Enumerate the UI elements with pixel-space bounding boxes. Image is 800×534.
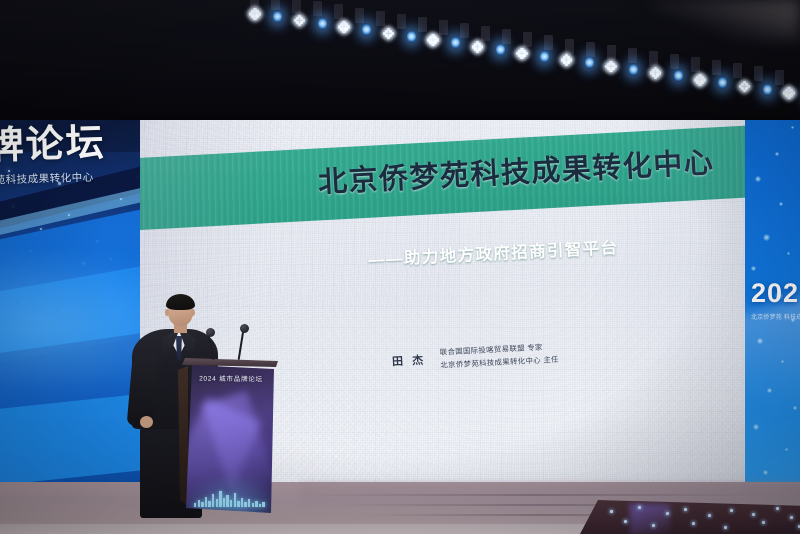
- truss-tooth: [271, 0, 280, 10]
- cluster-light-icon: [516, 48, 528, 60]
- skyline-building: [219, 491, 221, 507]
- skyline-building: [248, 499, 250, 507]
- truss-tooth: [313, 1, 322, 16]
- truss-tooth: [439, 20, 448, 35]
- cluster-light-icon: [650, 67, 662, 79]
- truss-tooth: [691, 57, 700, 72]
- truss-tooth: [754, 66, 763, 81]
- skyline-building: [259, 504, 261, 507]
- truss-tooth: [376, 11, 385, 26]
- truss-tooth: [649, 51, 658, 66]
- cluster-light-icon: [561, 54, 573, 66]
- ceiling-wall-glow: [650, 0, 800, 40]
- cluster-light-icon: [383, 28, 395, 40]
- truss-tooth: [481, 26, 490, 41]
- bokeh-dot: [755, 176, 761, 182]
- riser-sparkle: [692, 522, 695, 525]
- riser-sparkle: [638, 506, 641, 509]
- cluster-light-icon: [338, 21, 350, 33]
- left-panel-text: 品牌论坛 北京侨梦苑科技成果转化中心: [0, 123, 147, 189]
- bokeh-dot: [791, 126, 794, 129]
- podium-sign-text: 2024 城市品牌论坛: [199, 372, 263, 383]
- microphone-icon: [240, 324, 249, 333]
- riser-sparkle: [730, 509, 733, 512]
- riser-sparkle: [666, 512, 669, 515]
- speaker-tie: [176, 336, 182, 360]
- bokeh-dot: [787, 252, 790, 255]
- truss-tooth: [544, 35, 553, 50]
- left-panel-title: 品牌论坛: [0, 123, 146, 167]
- riser-sparkle: [652, 524, 655, 527]
- skyline-building: [262, 502, 264, 507]
- riser-sparkle: [624, 520, 627, 523]
- right-panel-subtitle: 北京侨梦苑 科技成果: [751, 312, 800, 321]
- speaker-ear-left: [165, 309, 169, 316]
- conference-stage-photo: 品牌论坛 北京侨梦苑科技成果转化中心 北京侨梦苑科技成果转化中心 ——助力地方政…: [0, 0, 800, 534]
- lectern-podium: 2024 城市品牌论坛: [184, 358, 276, 514]
- riser-sparkle: [752, 513, 755, 516]
- skyline-building: [198, 500, 200, 507]
- skyline-building: [212, 494, 214, 507]
- bokeh-dot: [775, 152, 779, 156]
- spotlight-icon: [407, 30, 416, 43]
- spotlight-icon: [674, 69, 683, 82]
- skyline-building: [252, 503, 254, 507]
- skyline-building: [230, 500, 232, 507]
- skyline-building: [216, 499, 218, 507]
- cluster-light-icon: [249, 8, 261, 20]
- right-panel-year: 202: [751, 280, 800, 307]
- skyline-building: [194, 503, 196, 507]
- ceiling-truss: [0, 0, 800, 120]
- right-panel-text: 202 北京侨梦苑 科技成果: [751, 280, 800, 321]
- stage-riser: [580, 500, 800, 534]
- truss-tooth: [502, 29, 511, 44]
- truss-tooth: [712, 60, 721, 75]
- cluster-light-icon: [605, 61, 617, 73]
- truss-tooth: [586, 42, 595, 57]
- truss-tooth: [460, 23, 469, 38]
- riser-sparkle: [708, 514, 711, 517]
- left-panel-glow: [0, 250, 150, 400]
- right-panel-sheen: [745, 294, 800, 488]
- podium-front-panel: 2024 城市品牌论坛: [186, 365, 274, 513]
- podium-skyline-graphic: [194, 491, 266, 507]
- bokeh-dot: [751, 266, 756, 271]
- truss-tooth: [418, 17, 427, 32]
- truss-tooth: [775, 70, 784, 85]
- truss-tooth: [250, 0, 259, 7]
- microphone-icon: [206, 328, 215, 337]
- spotlight-icon: [318, 17, 327, 30]
- riser-sparkle: [776, 507, 779, 510]
- riser-light-beam: [630, 504, 670, 534]
- cluster-light-icon: [739, 81, 751, 93]
- skyline-building: [226, 495, 228, 507]
- spotlight-icon: [496, 43, 505, 56]
- riser-sparkle: [684, 508, 687, 511]
- riser-sparkle: [790, 516, 793, 519]
- riser-sparkle: [724, 526, 727, 529]
- truss-tooth: [670, 54, 679, 69]
- truss-tooth: [628, 48, 637, 63]
- truss-tooth: [334, 4, 343, 19]
- skyline-building: [244, 502, 246, 507]
- spotlight-icon: [273, 10, 282, 23]
- skyline-building: [234, 493, 236, 507]
- speaker-ear-right: [191, 309, 195, 316]
- cluster-light-icon: [783, 87, 795, 99]
- right-led-panel: 202 北京侨梦苑 科技成果: [745, 56, 800, 500]
- skyline-building: [208, 501, 210, 507]
- cluster-light-icon: [427, 34, 439, 46]
- spotlight-icon: [585, 56, 594, 69]
- skyline-building: [255, 501, 257, 507]
- truss-tooth: [607, 45, 616, 60]
- floor-seam: [300, 494, 770, 496]
- spotlight-icon: [540, 50, 549, 63]
- truss-tooth: [355, 8, 364, 23]
- riser-sparkle: [762, 521, 765, 524]
- spotlight-icon: [718, 76, 727, 89]
- skyline-building: [237, 501, 239, 507]
- skyline-building: [223, 498, 225, 507]
- speaker-hair: [166, 294, 195, 310]
- truss-tooth: [292, 0, 301, 13]
- podium-sign: 2024 城市品牌论坛: [194, 370, 268, 384]
- truss-tooth: [565, 39, 574, 54]
- spotlight-icon: [629, 63, 638, 76]
- truss-tooth: [397, 14, 406, 29]
- cluster-light-icon: [694, 74, 706, 86]
- speaker-hand: [140, 416, 153, 428]
- truss-tooth: [733, 63, 742, 78]
- skyline-building: [241, 498, 243, 507]
- bokeh-dot: [779, 202, 783, 206]
- bokeh-dot: [763, 234, 770, 241]
- skyline-building: [201, 502, 203, 507]
- skyline-building: [205, 497, 207, 507]
- truss-tooth: [523, 32, 532, 47]
- riser-sparkle: [610, 510, 613, 513]
- spotlight-icon: [763, 83, 772, 96]
- cluster-light-icon: [472, 41, 484, 53]
- cluster-light-icon: [294, 15, 306, 27]
